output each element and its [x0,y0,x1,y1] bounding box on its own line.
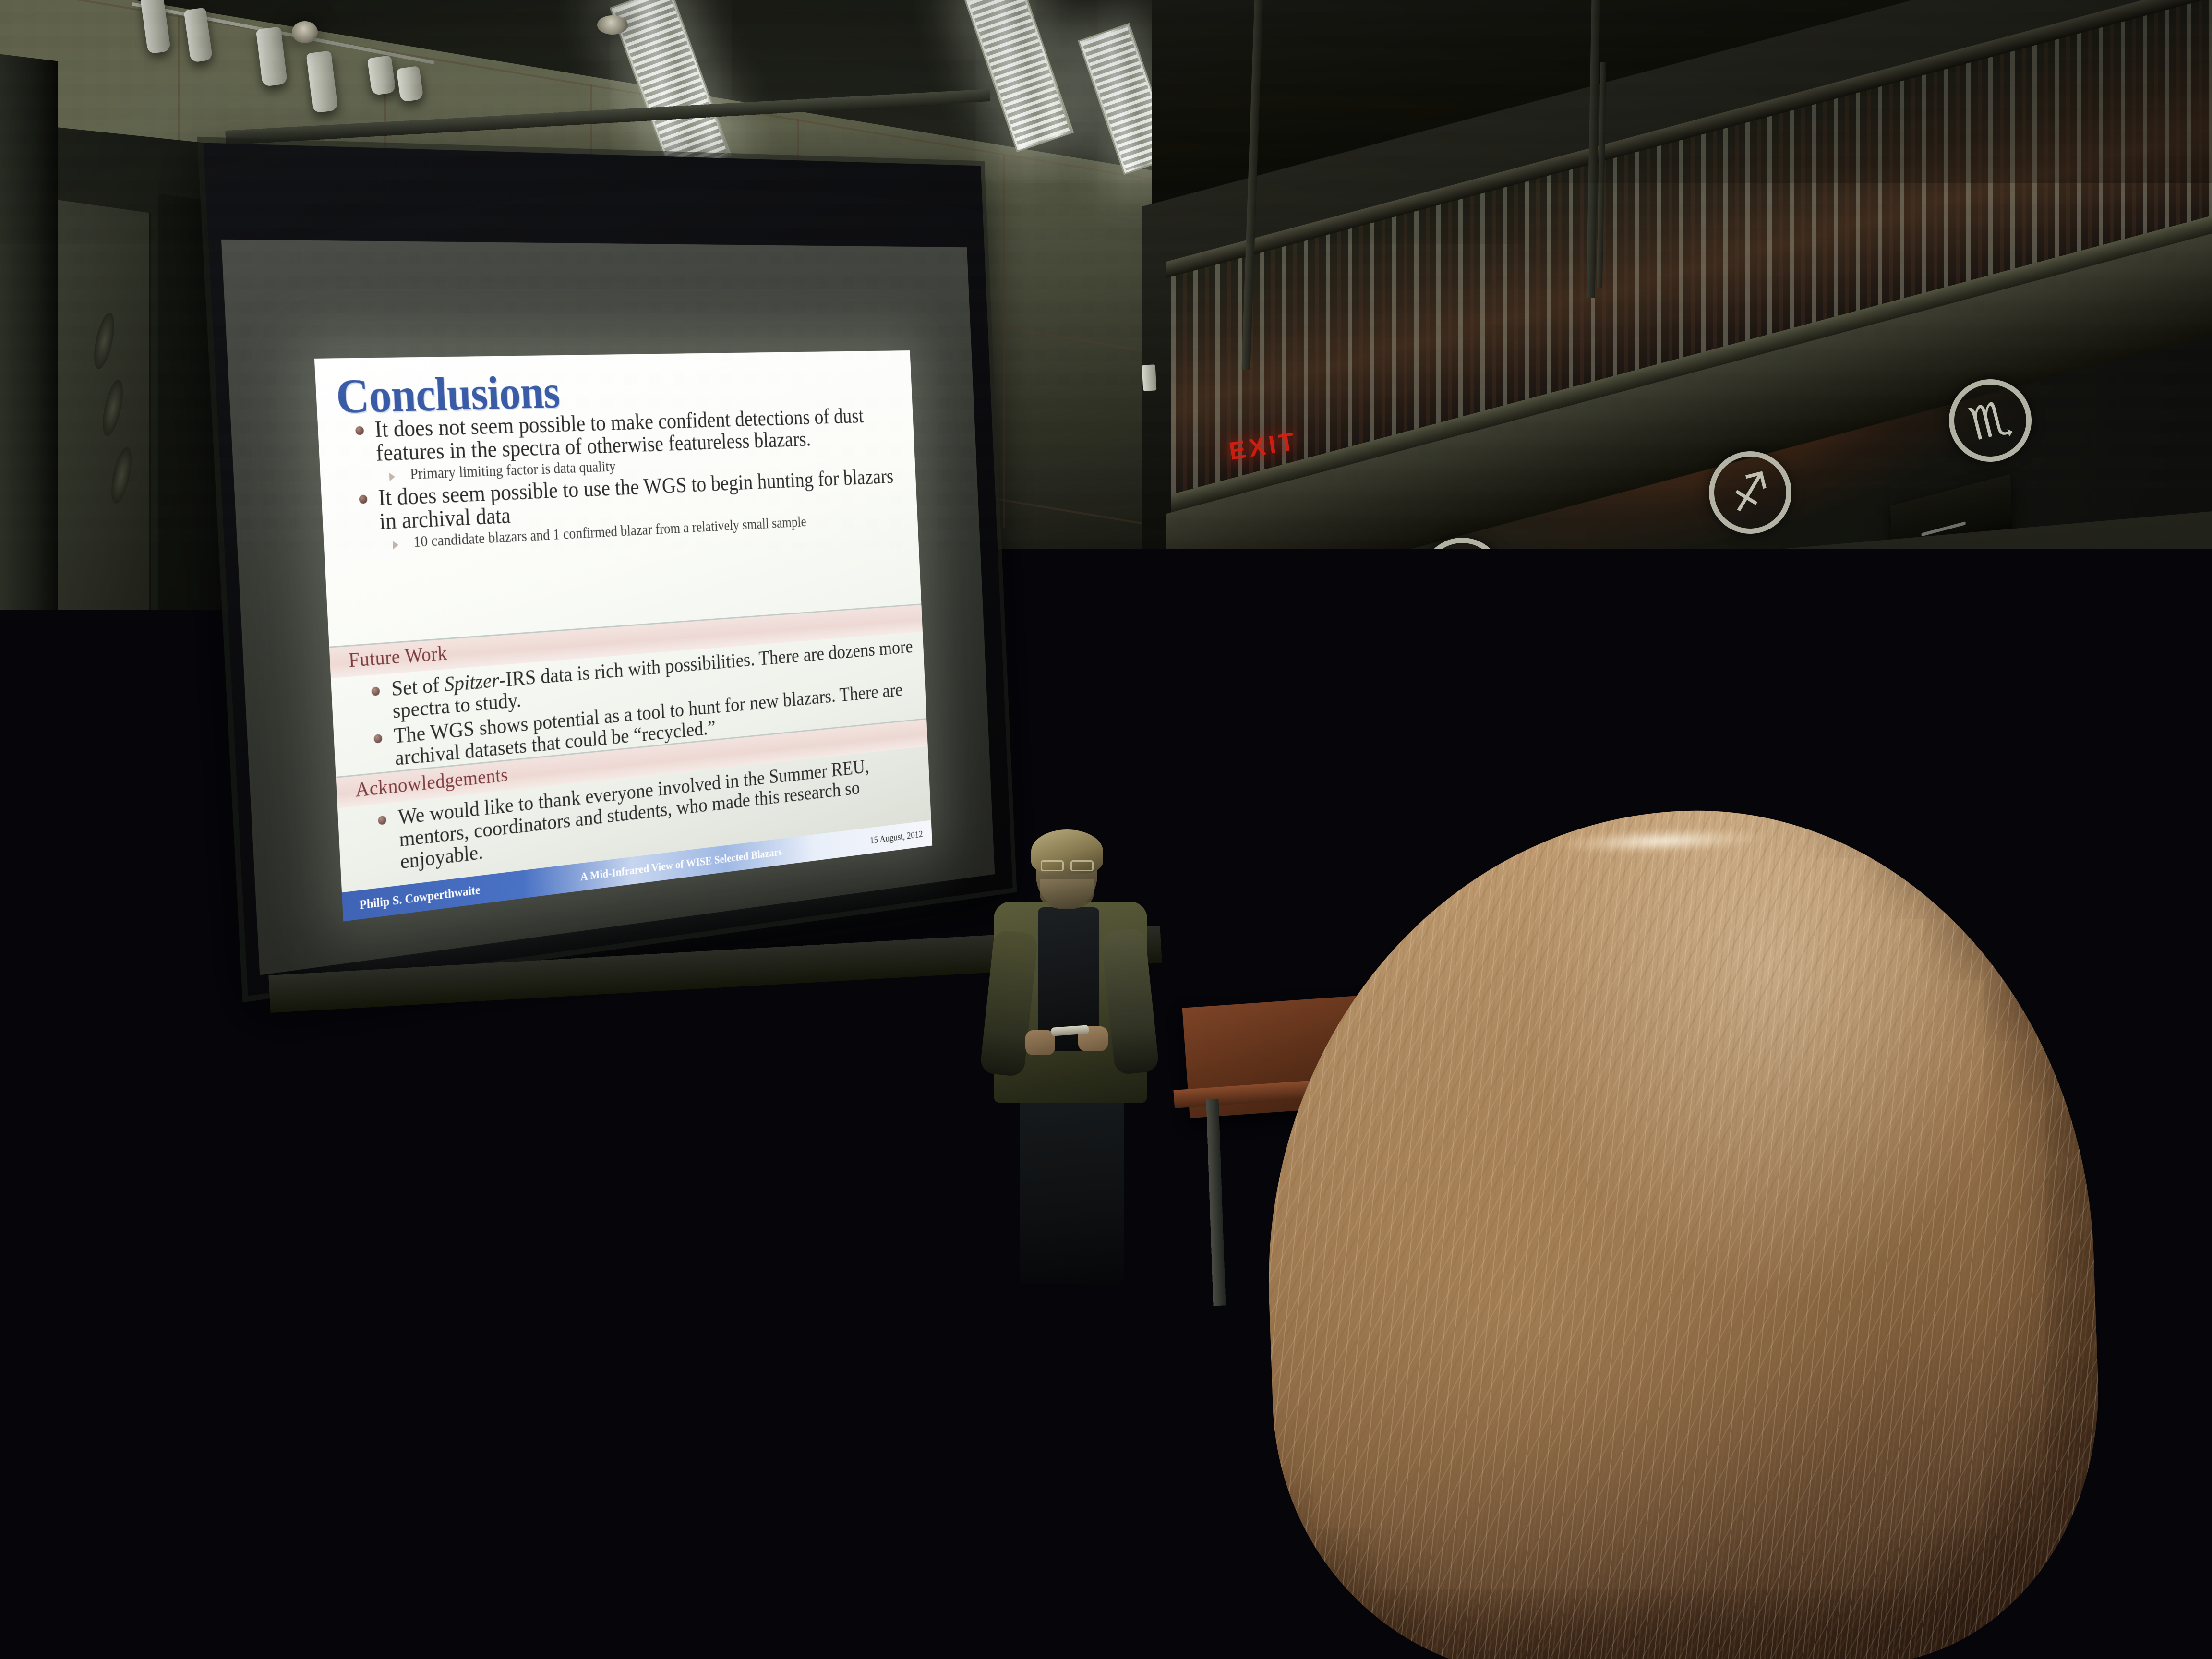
photograph-scene: ♒ ♑ ♐ ♏ EXIT Conclusions It does not see… [0,0,2212,1659]
ceiling-spotlight [292,21,318,43]
audience-hair [485,838,653,982]
presenter [979,835,1162,1277]
section-header-label: Future Work [348,642,448,672]
cylinder-downlight [367,55,396,96]
seat-support-post [345,1435,355,1565]
left-wall-panel [58,200,151,894]
audience-member-front-left [379,845,773,1450]
ceiling-spotlight [597,15,628,35]
presenter-hand-left [1025,1030,1055,1055]
audience-ear [636,929,661,971]
slide-bullets-conclusions: It does not seem possible to make confid… [350,404,905,555]
presenter-beard [1040,879,1094,909]
audience-shoulders [389,1056,768,1450]
hair-strand-texture [1252,797,2107,1659]
wall-outlet [950,1214,969,1238]
glasses-icon [1041,860,1094,869]
auditorium-seat [0,1522,223,1659]
presenter-legs [1020,1097,1124,1284]
slide-footer-date: 15 August, 2012 [870,828,932,846]
screen-pull-knob [1142,364,1157,391]
projected-slide: Conclusions It does not seem possible to… [314,350,932,922]
foreground-person-hair [1252,797,2107,1659]
cylinder-downlight [396,66,423,102]
seat-support-post [574,1536,585,1647]
